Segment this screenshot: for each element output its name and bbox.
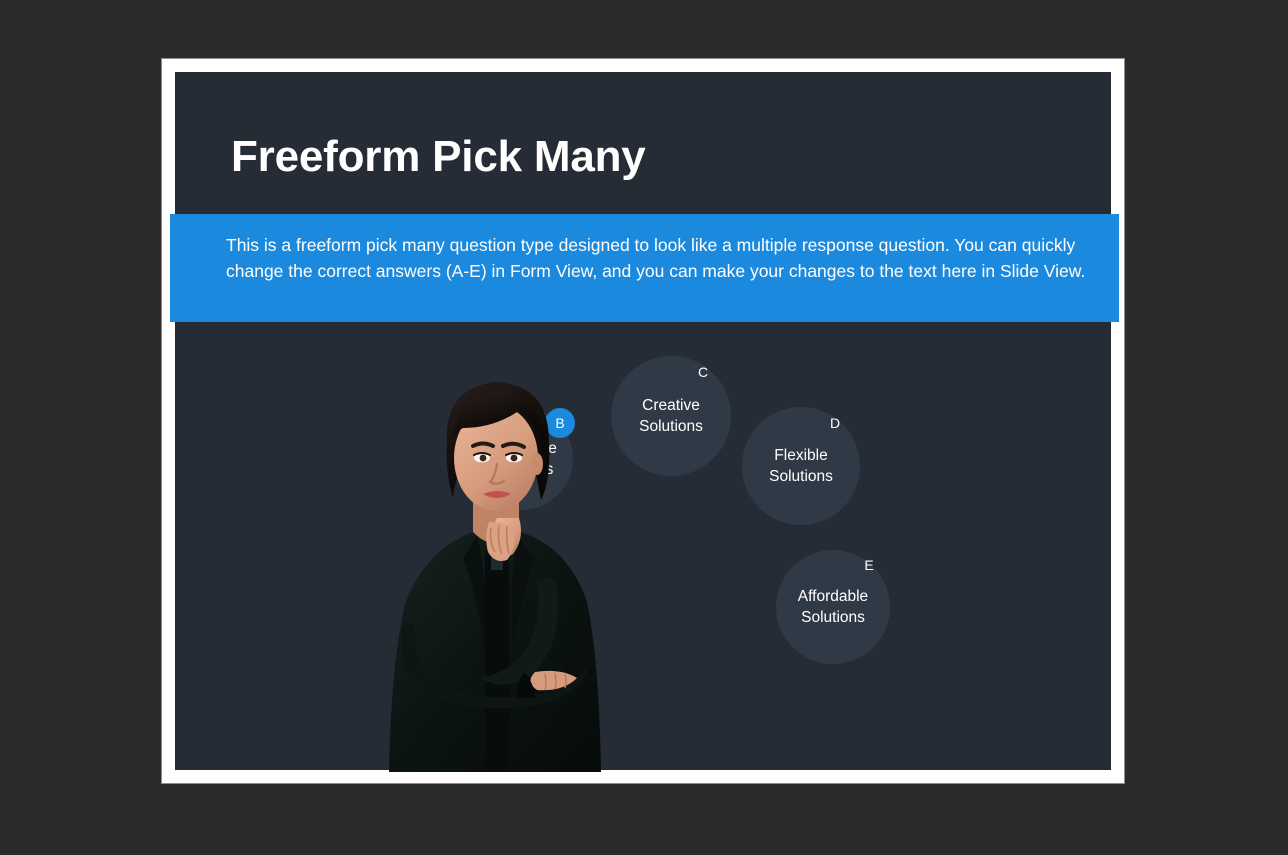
answer-label-d-line2: Solutions [769, 468, 833, 485]
answer-label-b-line1: Innovative [486, 440, 557, 457]
answer-label-b: Innovative Solutions [480, 438, 563, 480]
slide-surface[interactable]: Freeform Pick Many This is a freeform pi… [175, 72, 1111, 770]
answer-badge-a[interactable]: A [528, 550, 560, 582]
answer-label-d-line1: Flexible [774, 447, 827, 464]
answer-bubble-field: Outdated Solutions A Innovative Solution… [175, 72, 1111, 770]
answer-label-a-line2: Solutions [469, 603, 533, 620]
slide-frame: Freeform Pick Many This is a freeform pi… [161, 58, 1125, 784]
answer-label-e-line2: Solutions [801, 609, 865, 626]
answer-label-a-line1: Outdated [469, 582, 533, 599]
slide-editor-canvas: Freeform Pick Many This is a freeform pi… [0, 0, 1288, 855]
answer-badge-c[interactable]: C [688, 357, 718, 387]
answer-badge-e[interactable]: E [854, 550, 884, 580]
answer-badge-d[interactable]: D [820, 408, 850, 438]
answer-label-d: Flexible Solutions [763, 445, 839, 487]
answer-label-a: Outdated Solutions [463, 580, 539, 622]
answer-label-b-line2: Solutions [490, 461, 554, 478]
answer-label-e: Affordable Solutions [792, 586, 874, 628]
answer-label-c: Creative Solutions [633, 395, 709, 437]
answer-badge-b[interactable]: B [545, 408, 575, 438]
answer-label-e-line1: Affordable [798, 588, 868, 605]
answer-label-c-line1: Creative [642, 397, 700, 414]
answer-label-c-line2: Solutions [639, 418, 703, 435]
